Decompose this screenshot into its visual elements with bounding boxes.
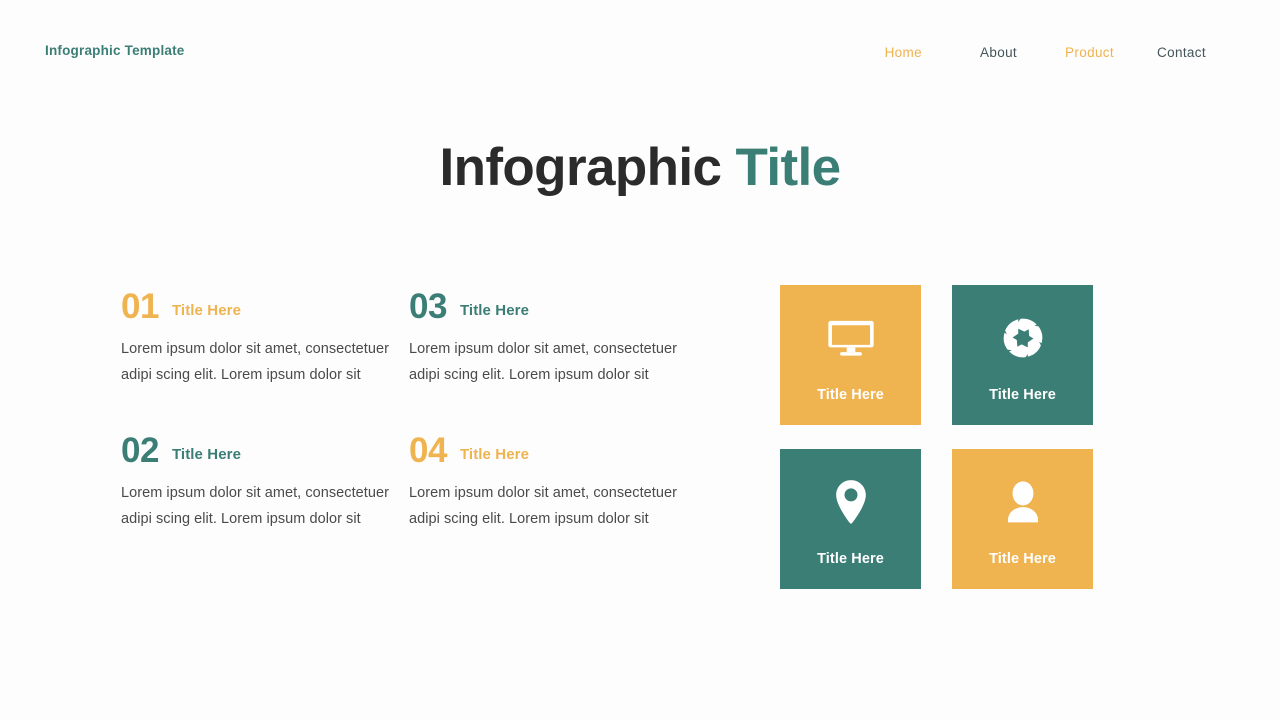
fact-number: 01 xyxy=(121,289,159,324)
fact-number: 04 xyxy=(409,433,447,468)
page-title-primary: Infographic xyxy=(439,138,721,197)
icon-card-grid: Title Here xyxy=(780,285,1093,589)
map-pin-icon xyxy=(826,477,876,527)
slide-canvas: Infographic Template Home About Product … xyxy=(0,0,1280,720)
fact-item-04: 04 Title Here Lorem ipsum dolor sit amet… xyxy=(409,433,684,533)
fact-body: Lorem ipsum dolor sit amet, consectetuer… xyxy=(121,336,396,389)
fact-heading: 01 Title Here xyxy=(121,289,396,324)
fact-item-03: 03 Title Here Lorem ipsum dolor sit amet… xyxy=(409,289,684,389)
icon-card-label: Title Here xyxy=(952,551,1093,567)
fact-body: Lorem ipsum dolor sit amet, consectetuer… xyxy=(409,336,684,389)
icon-card-aperture[interactable]: Title Here xyxy=(952,285,1093,425)
fact-item-02: 02 Title Here Lorem ipsum dolor sit amet… xyxy=(121,433,396,533)
brand-logo[interactable]: Infographic Template xyxy=(45,43,185,58)
fact-title: Title Here xyxy=(460,302,529,319)
fact-body: Lorem ipsum dolor sit amet, consectetuer… xyxy=(409,480,684,533)
nav-item-home[interactable]: Home xyxy=(885,45,922,60)
aperture-icon xyxy=(998,313,1048,363)
user-icon xyxy=(998,477,1048,527)
fact-number: 02 xyxy=(121,433,159,468)
fact-item-01: 01 Title Here Lorem ipsum dolor sit amet… xyxy=(121,289,396,389)
icon-card-label: Title Here xyxy=(780,387,921,403)
fact-heading: 02 Title Here xyxy=(121,433,396,468)
icon-card-label: Title Here xyxy=(952,387,1093,403)
fact-body: Lorem ipsum dolor sit amet, consectetuer… xyxy=(121,480,396,533)
nav-item-contact[interactable]: Contact xyxy=(1157,45,1206,60)
page-title-accent: Title xyxy=(736,138,841,197)
site-header: Infographic Template Home About Product … xyxy=(0,0,1280,100)
fact-number: 03 xyxy=(409,289,447,324)
monitor-icon xyxy=(826,313,876,363)
icon-card-monitor[interactable]: Title Here xyxy=(780,285,921,425)
fact-title: Title Here xyxy=(460,446,529,463)
facts-list: 01 Title Here Lorem ipsum dolor sit amet… xyxy=(121,289,721,532)
page-title: Infographic Title xyxy=(0,141,1280,194)
fact-heading: 04 Title Here xyxy=(409,433,684,468)
icon-card-location[interactable]: Title Here xyxy=(780,449,921,589)
main-navigation: Home About Product Contact xyxy=(885,45,1206,60)
icon-card-label: Title Here xyxy=(780,551,921,567)
fact-title: Title Here xyxy=(172,446,241,463)
fact-title: Title Here xyxy=(172,302,241,319)
nav-item-product[interactable]: Product xyxy=(1065,45,1114,60)
fact-heading: 03 Title Here xyxy=(409,289,684,324)
nav-item-about[interactable]: About xyxy=(980,45,1017,60)
icon-card-user[interactable]: Title Here xyxy=(952,449,1093,589)
